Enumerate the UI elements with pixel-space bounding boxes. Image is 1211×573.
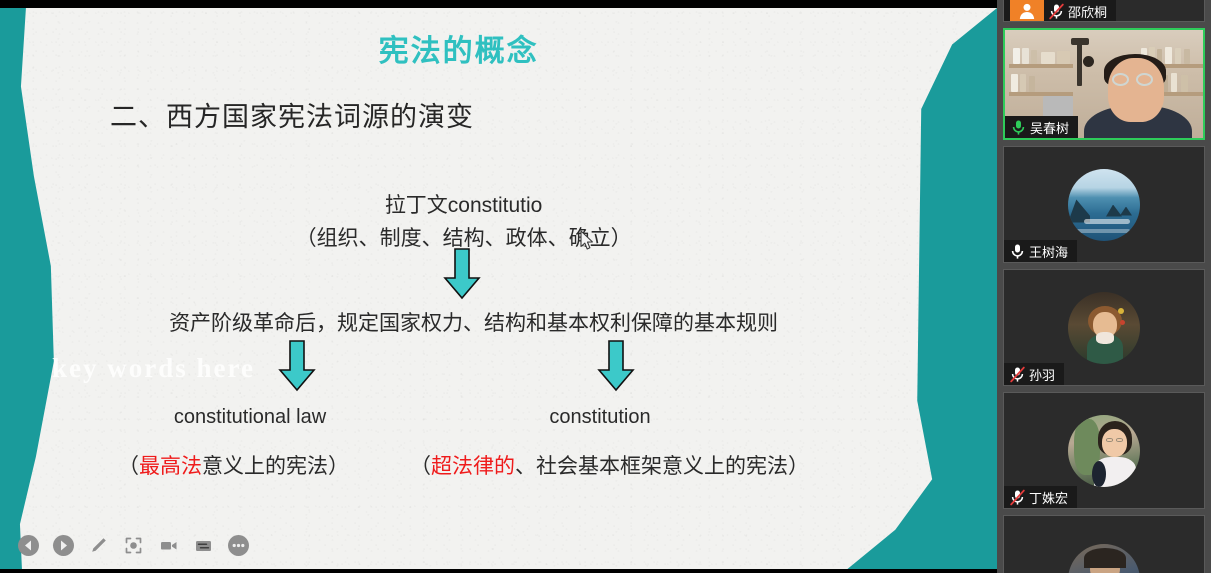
participant-tile-1[interactable]: 吴春树 — [1003, 28, 1205, 140]
generic-person-icon — [1010, 0, 1044, 22]
mic-unmuted-icon — [1010, 243, 1024, 259]
mic-muted-icon — [1010, 489, 1024, 505]
participant-1-name: 吴春树 — [1030, 118, 1069, 137]
gloss-left-rest: 意义上的宪法） — [202, 455, 349, 478]
shared-screen-area[interactable]: 宪法的概念 二、西方国家宪法词源的演变 key words here 拉丁文co… — [0, 0, 997, 573]
down-arrow-3 — [597, 340, 635, 392]
powerpoint-slide[interactable]: 宪法的概念 二、西方国家宪法词源的演变 key words here 拉丁文co… — [0, 8, 997, 569]
slide-title: 宪法的概念 — [0, 26, 917, 70]
participant-tile-5[interactable] — [1003, 515, 1205, 573]
participant-tile-2[interactable]: 王树海 — [1003, 146, 1205, 263]
meeting-screen-share-window: 宪法的概念 二、西方国家宪法词源的演变 key words here 拉丁文co… — [0, 0, 1211, 573]
gloss-constitutional-law: （最高法意义上的宪法） — [118, 450, 349, 480]
gloss-right-highlight: 超法律的 — [431, 455, 515, 478]
participant-5-media — [1004, 516, 1204, 573]
gloss-left-highlight: 最高法 — [139, 455, 202, 478]
ellipsis-icon[interactable] — [228, 535, 249, 556]
avatar — [1068, 544, 1140, 573]
mouse-cursor — [580, 230, 596, 257]
term-constitution: constitution — [455, 406, 745, 429]
avatar — [1068, 292, 1140, 364]
slide-watermark-text: key words here — [52, 353, 255, 384]
participant-3-badge: 孙羽 — [1004, 363, 1064, 385]
mic-muted-icon — [1049, 3, 1063, 19]
chevron-left-icon[interactable] — [18, 535, 39, 556]
gloss-right-open: （ — [410, 455, 431, 478]
participant-2-name: 王树海 — [1029, 242, 1068, 261]
gloss-left-open: （ — [118, 455, 139, 478]
gloss-right-rest: 、社会基本框架意义上的宪法） — [515, 455, 809, 478]
avatar — [1068, 169, 1140, 241]
chevron-right-icon[interactable] — [53, 535, 74, 556]
revolution-rule-line: 资产阶级革命后，规定国家权力、结构和基本权利保障的基本规则 — [0, 307, 947, 337]
participant-1-badge: 吴春树 — [1005, 116, 1078, 138]
down-arrow-2 — [278, 340, 316, 392]
participant-3-media: 孙羽 — [1004, 270, 1204, 385]
participant-4-name: 丁姝宏 — [1029, 488, 1068, 507]
latin-origin-block: 拉丁文constitutio （组织、制度、结构、政体、确立） — [0, 190, 927, 255]
latin-term: 拉丁文constitutio — [0, 190, 927, 223]
participant-4-badge: 丁姝宏 — [1004, 486, 1077, 508]
mic-unmuted-icon — [1011, 119, 1025, 135]
spotlight-icon[interactable] — [123, 535, 144, 556]
avatar — [1068, 415, 1140, 487]
participant-4-media: 丁姝宏 — [1004, 393, 1204, 508]
pen-icon[interactable] — [88, 535, 109, 556]
participant-tile-0[interactable]: 邵欣桐 — [1003, 0, 1205, 22]
slide-paper-background — [0, 8, 997, 569]
mic-muted-icon — [1010, 366, 1024, 382]
participant-tile-4[interactable]: 丁姝宏 — [1003, 392, 1205, 509]
participant-0-badge: 邵欣桐 — [1004, 0, 1116, 22]
participant-3-name: 孙羽 — [1029, 365, 1055, 384]
gloss-constitution: （超法律的、社会基本框架意义上的宪法） — [410, 450, 809, 480]
participant-2-badge: 王树海 — [1004, 240, 1077, 262]
slide-section-heading: 二、西方国家宪法词源的演变 — [110, 95, 474, 134]
participant-0-media: 邵欣桐 — [1004, 0, 1204, 21]
video-camera-icon[interactable] — [158, 535, 179, 556]
powerpoint-presenter-toolbar[interactable] — [18, 535, 249, 556]
down-arrow-1 — [443, 248, 481, 300]
participant-1-media: 吴春树 — [1005, 30, 1203, 138]
term-constitutional-law: constitutional law — [120, 406, 380, 429]
participant-0-name: 邵欣桐 — [1068, 2, 1107, 21]
slides-icon[interactable] — [193, 535, 214, 556]
participant-video-strip[interactable]: 邵欣桐 — [997, 0, 1211, 573]
participant-2-media: 王树海 — [1004, 147, 1204, 262]
participant-tile-3[interactable]: 孙羽 — [1003, 269, 1205, 386]
